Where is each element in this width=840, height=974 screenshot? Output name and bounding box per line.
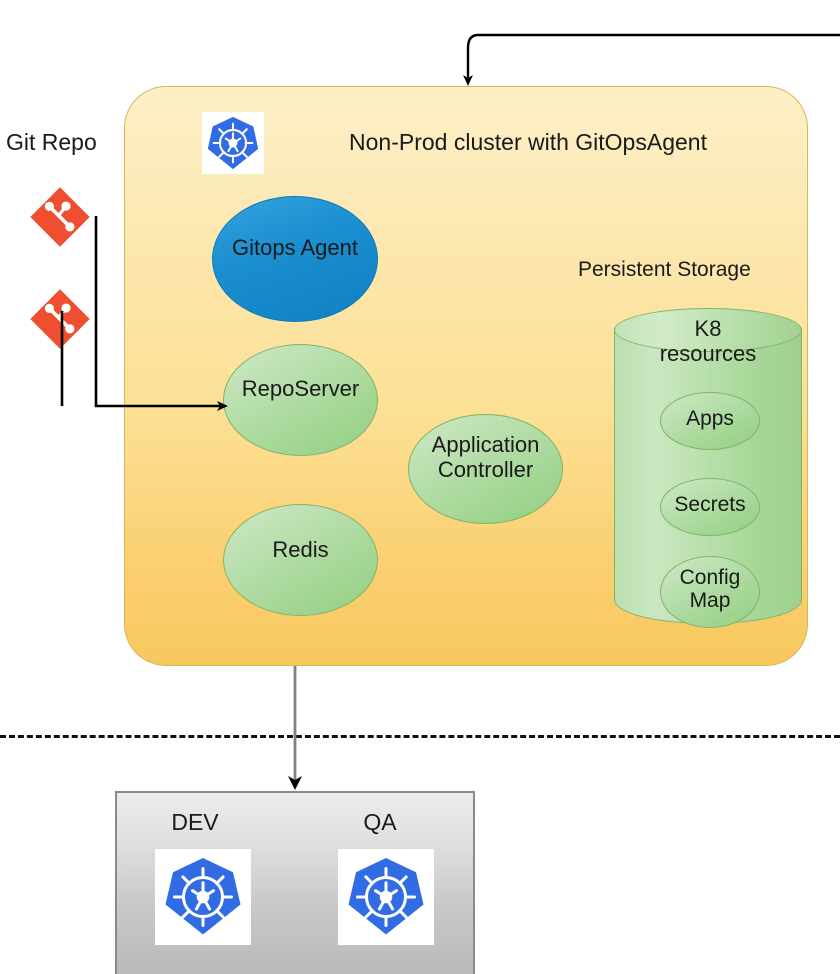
edge-git-to-repo-server xyxy=(0,180,300,430)
component-label: Redis xyxy=(224,505,377,563)
storage-item-secrets[interactable]: Secrets xyxy=(660,478,760,536)
storage-item-label: Apps xyxy=(661,393,759,431)
storage-item-config-map[interactable]: Config Map xyxy=(660,556,760,628)
cluster-title: Non-Prod cluster with GitOpsAgent xyxy=(300,130,756,156)
kubernetes-icon xyxy=(155,849,251,945)
component-redis[interactable]: Redis xyxy=(223,504,378,616)
environment-label-dev: DEV xyxy=(145,810,245,836)
storage-item-label: Config Map xyxy=(661,557,759,612)
component-label: Application Controller xyxy=(409,415,562,482)
diagram-canvas: Git Repo xyxy=(0,0,840,974)
kubernetes-icon xyxy=(202,112,264,174)
edge-cluster-to-environments xyxy=(0,660,400,800)
persistent-storage-title: Persistent Storage xyxy=(578,258,836,282)
environment-label-qa: QA xyxy=(330,810,430,836)
git-repo-label: Git Repo xyxy=(6,130,124,156)
storage-item-apps[interactable]: Apps xyxy=(660,392,760,450)
storage-item-label: Secrets xyxy=(661,479,759,517)
kubernetes-icon xyxy=(338,849,434,945)
cylinder-label: K8 resources xyxy=(614,317,802,366)
component-application-controller[interactable]: Application Controller xyxy=(408,414,563,524)
